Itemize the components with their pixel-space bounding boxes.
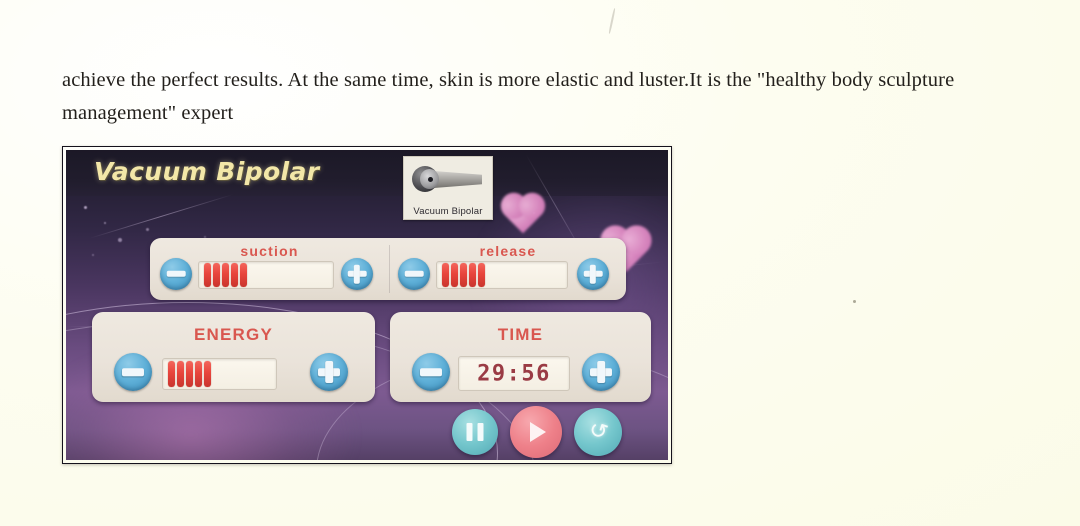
suction-plus-button[interactable] [341,258,373,290]
plus-icon [354,265,360,284]
time-minus-button[interactable] [412,353,450,391]
time-value: 29:56 [459,361,569,386]
time-value-box[interactable]: 29:56 [458,356,570,391]
gauge-bar [222,263,229,287]
plus-icon [325,361,333,383]
minus-icon [405,271,424,277]
time-label: TIME [390,325,651,345]
gauge-bar [231,263,238,287]
paper-speck [608,8,615,34]
screen-title: Vacuum Bipolar [94,157,320,186]
time-plus-button[interactable] [582,353,620,391]
handpiece-badge-label: Vacuum Bipolar [404,206,492,217]
handpiece-probe-icon [412,162,484,196]
plus-icon [597,361,605,383]
gauge-bar [460,263,467,287]
probe-dot [428,177,433,182]
gauge-bar [204,263,211,287]
pause-icon [467,423,484,441]
pause-button[interactable] [452,409,498,455]
release-plus-button[interactable] [577,258,609,290]
release-bar-gauge [442,263,485,287]
suction-minus-button[interactable] [160,258,192,290]
energy-value-box[interactable] [162,358,277,390]
panel-suction-release: suction [150,238,626,300]
background-star [118,238,122,242]
suction-value-box[interactable] [198,261,334,289]
release-label: release [390,243,626,259]
play-icon [530,422,546,442]
energy-minus-button[interactable] [114,353,152,391]
gauge-bar [451,263,458,287]
suction-bar-gauge [204,263,247,287]
background-star [104,222,106,224]
paragraph-line-2: management" expert [62,97,1047,130]
energy-bar-gauge [168,361,211,387]
reset-button[interactable]: ↺ [574,408,622,456]
background-star [84,206,87,209]
gauge-bar [240,263,247,287]
control-suction: suction [150,238,389,300]
background-star [146,228,149,231]
device-touchscreen: Vacuum Bipolar Vacuum Bipolar suction [66,150,668,460]
handpiece-badge[interactable]: Vacuum Bipolar [403,156,493,220]
gauge-bar [204,361,211,387]
release-minus-button[interactable] [398,258,430,290]
gauge-bar [442,263,449,287]
release-value-box[interactable] [436,261,568,289]
gauge-bar [195,361,202,387]
gauge-bar [177,361,184,387]
suction-label: suction [150,243,389,259]
gauge-bar [186,361,193,387]
gauge-bar [213,263,220,287]
background-streak [89,194,233,239]
control-release: release [390,238,626,300]
control-time: TIME 29:56 [390,312,651,402]
minus-icon [167,271,186,277]
control-energy: ENERGY [92,312,375,402]
background-star [92,254,94,256]
minus-icon [420,368,442,376]
paper-speck [853,300,856,303]
energy-label: ENERGY [92,325,375,345]
probe-body [434,171,482,188]
device-screen-photo: Vacuum Bipolar Vacuum Bipolar suction [62,146,672,464]
gauge-bar [168,361,175,387]
gauge-bar [478,263,485,287]
paragraph-line-1: achieve the perfect results. At the same… [62,64,1047,97]
plus-icon [590,265,596,284]
energy-plus-button[interactable] [310,353,348,391]
gauge-bar [469,263,476,287]
start-button[interactable] [510,406,562,458]
heart-decoration [510,202,536,228]
body-paragraph: achieve the perfect results. At the same… [62,64,1047,130]
reset-arrow-icon: ↺ [586,419,610,446]
minus-icon [122,368,144,376]
scanned-page: achieve the perfect results. At the same… [0,0,1080,526]
